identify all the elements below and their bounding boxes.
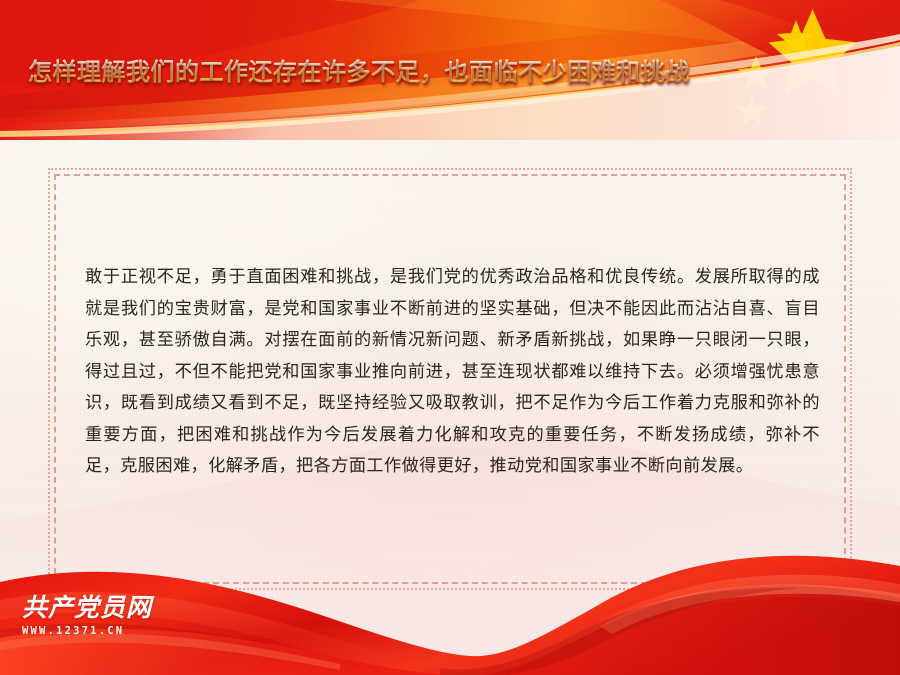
footer-wave-area: 共产党员网 WWW.12371.CN — [0, 530, 900, 675]
article-paragraph: 敢于正视不足，勇于直面困难和挑战，是我们党的优秀政治品格和优良传统。发展所取得的… — [85, 262, 820, 483]
logo-url: WWW.12371.CN — [22, 625, 152, 637]
poster-canvas: 怎样理解我们的工作还存在许多不足，也面临不少困难和挑战 敢于正视不足，勇于直面困… — [0, 0, 900, 675]
page-title: 怎样理解我们的工作还存在许多不足，也面临不少困难和挑战 — [28, 52, 690, 87]
header-banner: 怎样理解我们的工作还存在许多不足，也面临不少困难和挑战 — [0, 0, 900, 140]
logo-wordmark: 共产党员网 — [22, 595, 152, 620]
site-logo[interactable]: 共产党员网 WWW.12371.CN — [22, 595, 152, 637]
